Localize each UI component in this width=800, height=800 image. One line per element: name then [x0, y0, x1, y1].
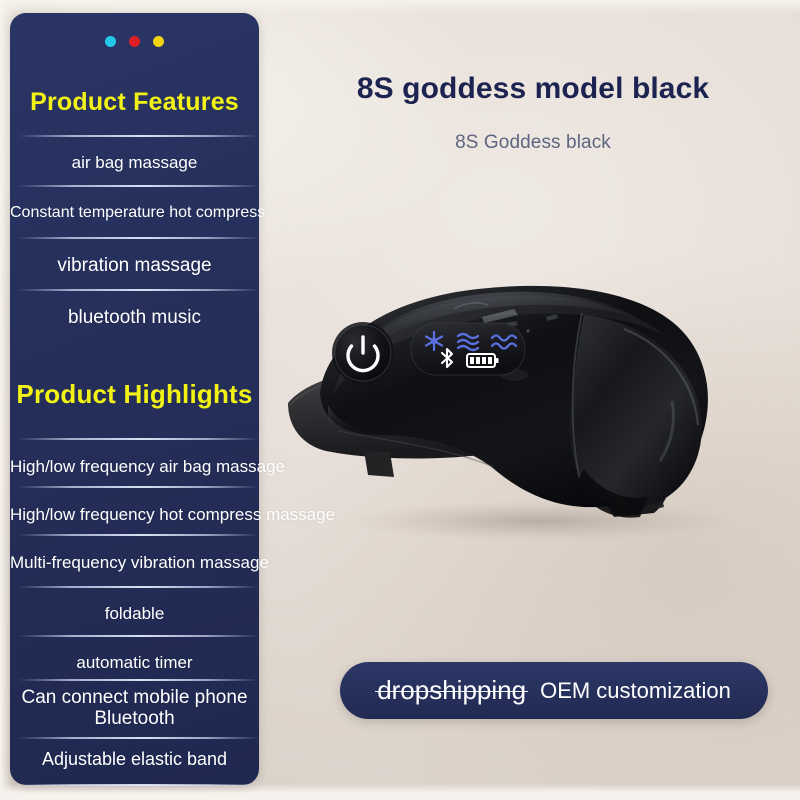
row-divider	[18, 784, 259, 786]
row-divider	[18, 438, 259, 440]
row-divider	[18, 586, 259, 588]
title-block: 8S goddess model black 8S Goddess black	[266, 72, 800, 154]
dropshipping-banner: dropshipping OEM customization	[340, 662, 768, 719]
spec-row-item: automatic timer	[10, 654, 259, 672]
row-divider	[18, 635, 259, 637]
dot-yellow-icon	[153, 36, 164, 47]
spec-row-item: bluetooth music	[10, 308, 259, 329]
dot-red-icon	[129, 36, 140, 47]
product-features-heading: Product Features	[10, 88, 259, 117]
background-top-edge	[0, 0, 800, 14]
product-shadow	[348, 501, 732, 541]
product-marketing-image: 8S goddess model black 8S Goddess black …	[0, 0, 800, 800]
row-divider	[18, 185, 259, 187]
row-divider	[18, 486, 259, 488]
spec-row-item: Adjustable elastic band	[10, 750, 259, 769]
spec-row-item: High/low frequency air bag massage	[10, 458, 259, 476]
indicator-panel	[411, 323, 525, 375]
product-highlights-heading: Product Highlights	[10, 379, 259, 410]
row-divider	[18, 237, 259, 239]
banner-secondary-label: OEM customization	[540, 678, 731, 704]
row-divider	[18, 737, 259, 739]
window-dots	[10, 36, 259, 47]
spec-row-item: air bag massage	[10, 154, 259, 172]
dot-cyan-icon	[105, 36, 116, 47]
spec-row-item: High/low frequency hot compress massage	[10, 506, 259, 524]
spec-row-item: Constant temperature hot compress	[10, 204, 259, 221]
banner-primary-label: dropshipping	[377, 675, 526, 706]
spec-panel: Product Features Product Highlights air …	[10, 13, 259, 785]
row-divider	[18, 135, 259, 137]
row-divider	[18, 289, 259, 291]
page-subtitle: 8S Goddess black	[266, 132, 800, 154]
row-divider	[18, 534, 259, 536]
product-image-eye-massager	[268, 255, 768, 545]
page-title: 8S goddess model black	[266, 72, 800, 106]
spec-row-item: vibration massage	[10, 256, 259, 277]
spec-row-item: Can connect mobile phone Bluetooth	[10, 688, 259, 729]
background-bottom-edge	[0, 784, 800, 800]
spec-row-item: foldable	[10, 605, 259, 623]
spec-row-item: Multi-frequency vibration massage	[10, 554, 259, 572]
strap-hinge-tab	[364, 451, 394, 477]
row-divider	[18, 679, 259, 681]
power-button	[332, 322, 394, 384]
